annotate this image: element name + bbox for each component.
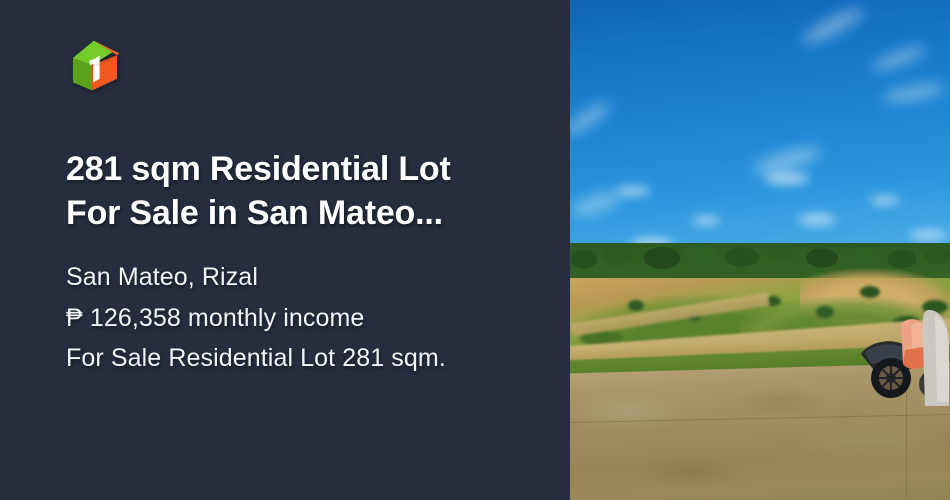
motorcycle-icon <box>855 302 950 412</box>
listing-details: San Mateo, Rizal ₱ 126,358 monthly incom… <box>66 257 536 379</box>
property-photo <box>570 0 950 500</box>
listing-description: For Sale Residential Lot 281 sqm. <box>66 338 536 379</box>
listing-card: 281 sqm Residential Lot For Sale in San … <box>0 0 950 500</box>
bush <box>860 286 880 298</box>
page-title: 281 sqm Residential Lot For Sale in San … <box>66 148 536 235</box>
house-number-one-logo-icon[interactable] <box>66 36 124 94</box>
listing-price: ₱ 126,358 monthly income <box>66 298 536 339</box>
listing-location: San Mateo, Rizal <box>66 257 536 298</box>
bush <box>628 300 644 311</box>
bush <box>816 306 834 318</box>
listing-text-block: 281 sqm Residential Lot For Sale in San … <box>66 148 536 379</box>
info-panel: 281 sqm Residential Lot For Sale in San … <box>0 0 570 500</box>
